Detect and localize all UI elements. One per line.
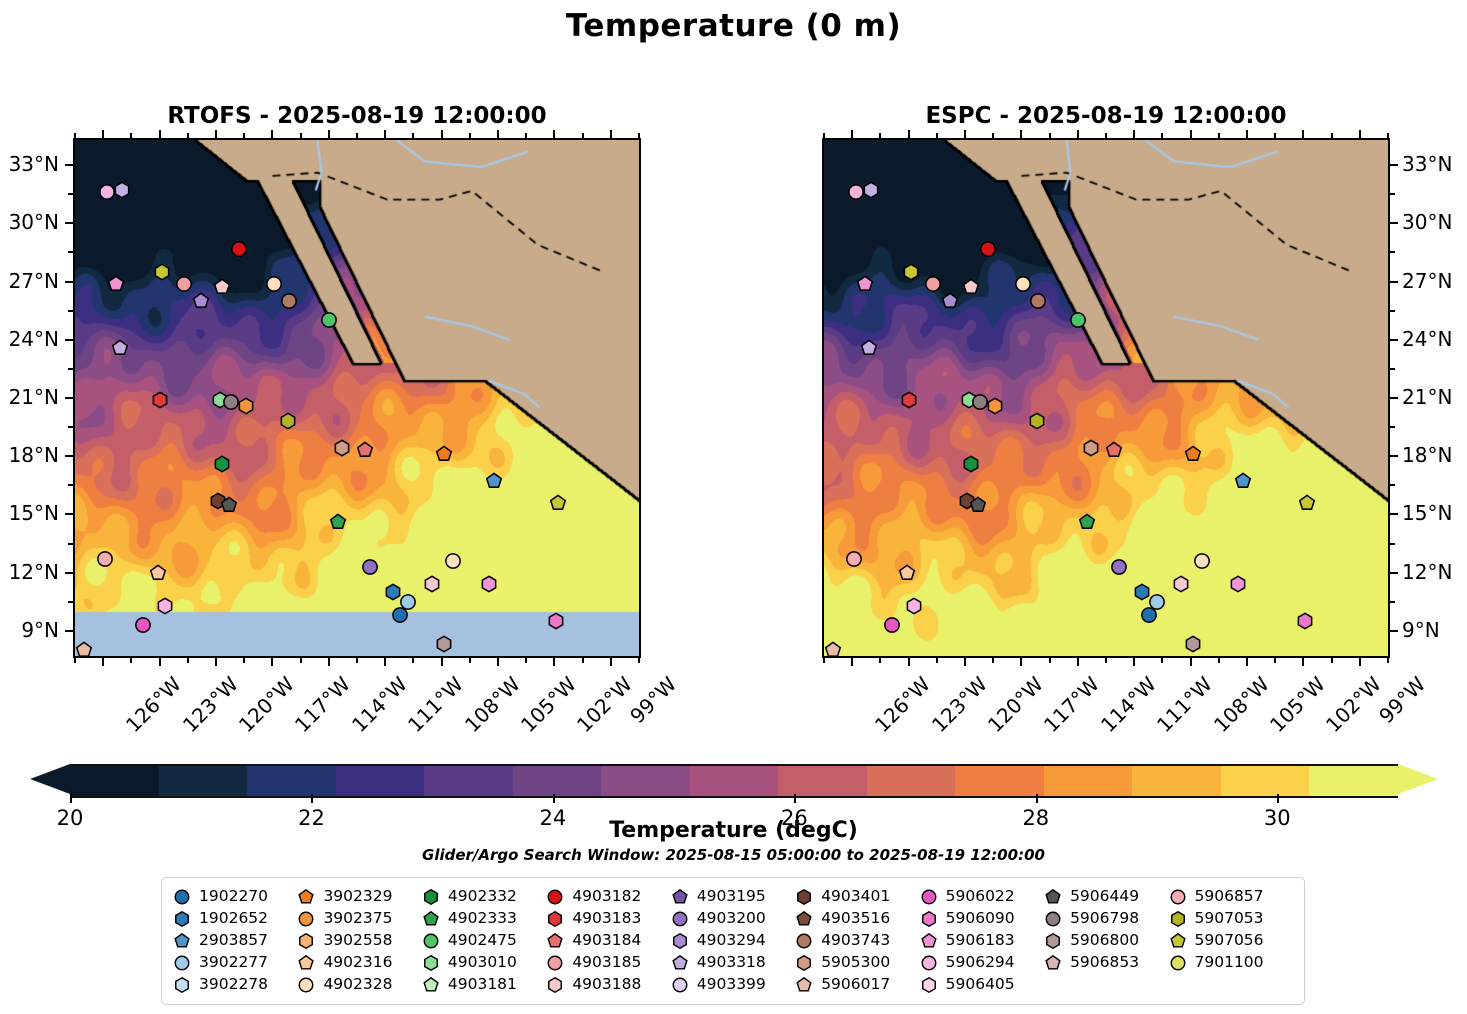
legend-item-label: 5906090 bbox=[946, 911, 1015, 927]
lon-tick-label: 102°W bbox=[572, 672, 637, 737]
legend-marker-icon bbox=[174, 889, 190, 905]
lat-tick bbox=[1390, 630, 1398, 632]
colorbar-gradient bbox=[70, 764, 1398, 798]
legend-item-label: 5906857 bbox=[1195, 889, 1264, 905]
lat-tick bbox=[65, 164, 73, 166]
platform-marker[interactable] bbox=[962, 279, 979, 300]
platform-marker[interactable] bbox=[900, 391, 917, 412]
lat-tick bbox=[1390, 222, 1398, 224]
lon-minor-tick bbox=[1274, 658, 1276, 663]
lon-minor-tick bbox=[992, 658, 994, 663]
legend-marker-icon bbox=[298, 933, 314, 949]
lon-tick bbox=[1020, 658, 1022, 666]
lon-tick-top bbox=[1359, 130, 1361, 138]
legend-column: 59060225906090590618359062945906405 bbox=[921, 887, 1045, 995]
legend-item[interactable]: 4903010 bbox=[423, 953, 547, 973]
platform-marker[interactable] bbox=[1184, 636, 1201, 657]
lon-minor-tick-top bbox=[1218, 133, 1220, 138]
legend-column: 39023293902375390255849023164902328 bbox=[298, 887, 422, 995]
platform-marker[interactable] bbox=[221, 496, 238, 517]
legend-marker-icon bbox=[1170, 911, 1186, 927]
platform-marker[interactable] bbox=[149, 564, 166, 585]
legend-item[interactable]: 4902316 bbox=[298, 953, 422, 973]
lon-tick-top bbox=[215, 130, 217, 138]
legend-item[interactable]: 5906449 bbox=[1045, 887, 1169, 907]
platform-marker[interactable] bbox=[1105, 442, 1122, 463]
lat-tick-label: 27°N bbox=[1402, 269, 1452, 293]
platform-marker[interactable] bbox=[320, 312, 337, 333]
search-window-subtitle: Glider/Argo Search Window: 2025-08-15 05… bbox=[0, 846, 1467, 864]
legend-item-label: 5906853 bbox=[1070, 955, 1139, 971]
platform-marker[interactable] bbox=[151, 391, 168, 412]
platform-marker[interactable] bbox=[362, 558, 379, 579]
platform-marker[interactable] bbox=[114, 182, 131, 203]
legend-item[interactable]: 3902558 bbox=[298, 931, 422, 951]
legend-item[interactable]: 4902475 bbox=[423, 931, 547, 951]
legend-marker-icon bbox=[298, 911, 314, 927]
platform-marker[interactable] bbox=[979, 240, 996, 261]
legend-item[interactable]: 4902328 bbox=[298, 975, 422, 995]
legend-marker-icon bbox=[547, 933, 563, 949]
legend-item-label: 4903010 bbox=[448, 955, 517, 971]
lat-tick bbox=[1390, 513, 1398, 515]
legend-column: 49031954903200490329449033184903399 bbox=[672, 887, 796, 995]
lon-minor-tick bbox=[936, 658, 938, 663]
colorbar-segment bbox=[336, 766, 425, 796]
platform-marker[interactable] bbox=[157, 597, 174, 618]
legend-marker-icon bbox=[298, 955, 314, 971]
legend-marker-icon bbox=[547, 977, 563, 993]
legend-item-label: 4903743 bbox=[821, 933, 890, 949]
colorbar-segment bbox=[690, 766, 779, 796]
lon-minor-tick-top bbox=[300, 133, 302, 138]
colorbar-segment bbox=[867, 766, 956, 796]
lat-minor-tick bbox=[1390, 193, 1395, 195]
platform-marker[interactable] bbox=[193, 292, 210, 313]
lon-tick-top bbox=[1133, 130, 1135, 138]
platform-marker[interactable] bbox=[153, 263, 170, 284]
platform-marker[interactable] bbox=[1069, 312, 1086, 333]
lon-tick-label: 111°W bbox=[1152, 672, 1217, 737]
legend-item-label: 5906022 bbox=[946, 889, 1015, 905]
legend-item-label: 5907056 bbox=[1195, 933, 1264, 949]
legend-item-label: 4903185 bbox=[572, 955, 641, 971]
legend-marker-icon bbox=[672, 955, 688, 971]
colorbar-title: Temperature (degC) bbox=[0, 818, 1467, 843]
lat-minor-tick bbox=[1390, 310, 1395, 312]
legend-marker-icon bbox=[921, 889, 937, 905]
colorbar-segment bbox=[247, 766, 336, 796]
legend-item[interactable]: 4903399 bbox=[672, 975, 796, 995]
legend-item[interactable]: 2903857 bbox=[174, 931, 298, 951]
legend-item-label: 4903401 bbox=[821, 889, 890, 905]
legend-column: 49023324902333490247549030104903181 bbox=[423, 887, 547, 995]
platform-marker[interactable] bbox=[486, 473, 503, 494]
map-panel-espc[interactable] bbox=[822, 138, 1390, 658]
platform-marker[interactable] bbox=[134, 617, 151, 638]
lat-minor-tick bbox=[68, 368, 73, 370]
platform-marker[interactable] bbox=[392, 607, 409, 628]
legend-item-label: 5906017 bbox=[821, 977, 890, 993]
lon-minor-tick bbox=[582, 658, 584, 663]
legend-item[interactable]: 4903318 bbox=[672, 953, 796, 973]
legend-item-label: 4903195 bbox=[697, 889, 766, 905]
legend-item[interactable]: 5906022 bbox=[921, 887, 1045, 907]
colorbar-over-arrow-icon bbox=[1398, 764, 1438, 794]
lon-minor-tick-top bbox=[936, 133, 938, 138]
legend-item[interactable]: 4903185 bbox=[547, 953, 671, 973]
lon-tick-top bbox=[610, 130, 612, 138]
legend-item[interactable]: 4903188 bbox=[547, 975, 671, 995]
lat-tick-label: 30°N bbox=[0, 210, 59, 234]
legend-item[interactable]: 4903743 bbox=[796, 931, 920, 951]
platform-marker[interactable] bbox=[76, 642, 93, 658]
platform-marker[interactable] bbox=[108, 275, 125, 296]
lon-tick-top bbox=[1077, 130, 1079, 138]
legend-item[interactable]: 5907056 bbox=[1170, 931, 1294, 951]
lon-tick bbox=[1077, 658, 1079, 666]
platform-marker[interactable] bbox=[213, 279, 230, 300]
lon-tick bbox=[964, 658, 966, 666]
lat-tick-label: 24°N bbox=[1402, 327, 1452, 351]
legend-column: 5906857590705359070567901100 bbox=[1170, 887, 1294, 995]
legend-marker-icon bbox=[298, 977, 314, 993]
legend-item[interactable]: 4903195 bbox=[672, 887, 796, 907]
legend-marker-icon bbox=[423, 955, 439, 971]
legend-item[interactable]: 4903401 bbox=[796, 887, 920, 907]
lon-minor-tick-top bbox=[1105, 133, 1107, 138]
platform-marker[interactable] bbox=[230, 240, 247, 261]
lat-tick-label: 33°N bbox=[0, 152, 59, 176]
panel-title-rtofs: RTOFS - 2025-08-19 12:00:00 bbox=[73, 103, 641, 129]
lon-minor-tick bbox=[469, 658, 471, 663]
legend-item[interactable]: 5906798 bbox=[1045, 909, 1169, 929]
lon-tick-label: 120°W bbox=[234, 672, 299, 737]
platform-marker[interactable] bbox=[1297, 613, 1314, 634]
lon-tick bbox=[908, 658, 910, 666]
legend-item[interactable]: 7901100 bbox=[1170, 953, 1294, 973]
legend-item[interactable]: 3902375 bbox=[298, 909, 422, 929]
lat-minor-tick bbox=[68, 310, 73, 312]
lon-tick bbox=[1302, 658, 1304, 666]
platform-marker[interactable] bbox=[1083, 440, 1100, 461]
legend-marker-icon bbox=[921, 911, 937, 927]
lon-minor-tick bbox=[130, 658, 132, 663]
platform-marker[interactable] bbox=[861, 339, 878, 360]
legend-item[interactable]: 5906853 bbox=[1045, 953, 1169, 973]
platform-marker[interactable] bbox=[846, 551, 863, 572]
legend-column: 19022701902652290385739022773902278 bbox=[174, 887, 298, 995]
platform-marker[interactable] bbox=[548, 613, 565, 634]
lon-minor-tick-top bbox=[638, 133, 640, 138]
lat-tick-label: 27°N bbox=[0, 269, 59, 293]
lon-tick-label: 105°W bbox=[516, 672, 581, 737]
platform-marker[interactable] bbox=[238, 397, 255, 418]
lat-tick bbox=[65, 339, 73, 341]
lon-minor-tick-top bbox=[1161, 133, 1163, 138]
legend-item-label: 4903399 bbox=[697, 977, 766, 993]
lat-minor-tick bbox=[1390, 251, 1395, 253]
legend-column: 49034014903516490374359053005906017 bbox=[796, 887, 920, 995]
lat-tick-label: 15°N bbox=[1402, 501, 1452, 525]
lon-tick-label: 126°W bbox=[870, 672, 935, 737]
legend-item[interactable]: 1902270 bbox=[174, 887, 298, 907]
lon-tick-top bbox=[328, 130, 330, 138]
lon-tick-top bbox=[964, 130, 966, 138]
platform-marker[interactable] bbox=[962, 455, 979, 476]
lat-tick bbox=[65, 630, 73, 632]
legend-item-label: 3902277 bbox=[199, 955, 268, 971]
legend-item[interactable]: 5906800 bbox=[1045, 931, 1169, 951]
lon-minor-tick-top bbox=[243, 133, 245, 138]
platform-marker[interactable] bbox=[213, 455, 230, 476]
lat-tick bbox=[65, 281, 73, 283]
legend-marker-icon bbox=[796, 889, 812, 905]
colorbar-under-arrow-icon bbox=[30, 764, 70, 794]
lon-tick-label: 99°W bbox=[625, 672, 681, 728]
colorbar-tick bbox=[553, 794, 555, 803]
lon-tick bbox=[102, 658, 104, 666]
platform-marker[interactable] bbox=[97, 551, 114, 572]
lon-tick bbox=[553, 658, 555, 666]
lon-tick-label: 111°W bbox=[403, 672, 468, 737]
lon-minor-tick-top bbox=[187, 133, 189, 138]
colorbar-segment bbox=[778, 766, 867, 796]
lon-minor-tick-top bbox=[412, 133, 414, 138]
lon-tick-top bbox=[159, 130, 161, 138]
platform-marker[interactable] bbox=[112, 339, 129, 360]
legend-item[interactable]: 5906857 bbox=[1170, 887, 1294, 907]
platform-marker[interactable] bbox=[906, 597, 923, 618]
legend-marker-icon bbox=[174, 977, 190, 993]
legend-item[interactable]: 4903181 bbox=[423, 975, 547, 995]
legend-marker-icon bbox=[547, 889, 563, 905]
platform-marker[interactable] bbox=[279, 413, 296, 434]
lon-minor-tick bbox=[1049, 658, 1051, 663]
platform-marker[interactable] bbox=[1184, 446, 1201, 467]
legend-item[interactable]: 5906294 bbox=[921, 953, 1045, 973]
legend-item-label: 3902558 bbox=[323, 933, 392, 949]
lon-tick bbox=[1359, 658, 1361, 666]
legend-marker-icon bbox=[423, 889, 439, 905]
legend-item[interactable]: 5905300 bbox=[796, 953, 920, 973]
legend-item-label: 4903188 bbox=[572, 977, 641, 993]
colorbar-tick bbox=[70, 794, 72, 803]
lon-tick-label: 123°W bbox=[926, 672, 991, 737]
legend-item[interactable]: 5907053 bbox=[1170, 909, 1294, 929]
platform-marker[interactable] bbox=[330, 514, 347, 535]
lon-tick-label: 114°W bbox=[347, 672, 412, 737]
lon-tick-top bbox=[1190, 130, 1192, 138]
panel-title-espc: ESPC - 2025-08-19 12:00:00 bbox=[822, 103, 1390, 129]
platform-marker[interactable] bbox=[970, 496, 987, 517]
lon-minor-tick-top bbox=[1049, 133, 1051, 138]
legend-item[interactable]: 5906017 bbox=[796, 975, 920, 995]
legend-marker-icon bbox=[423, 977, 439, 993]
lon-tick-top bbox=[384, 130, 386, 138]
legend-item-label: 1902652 bbox=[199, 911, 268, 927]
colorbar-segment bbox=[1132, 766, 1221, 796]
lon-tick bbox=[159, 658, 161, 666]
platform-marker[interactable] bbox=[1229, 576, 1246, 597]
platform-marker[interactable] bbox=[424, 576, 441, 597]
platform-marker[interactable] bbox=[480, 576, 497, 597]
lon-minor-tick bbox=[300, 658, 302, 663]
colorbar-segment bbox=[601, 766, 690, 796]
platform-marker[interactable] bbox=[1299, 494, 1316, 515]
legend-marker-icon bbox=[796, 933, 812, 949]
platform-marker[interactable] bbox=[898, 564, 915, 585]
lat-tick bbox=[1390, 455, 1398, 457]
platform-marker[interactable] bbox=[1173, 576, 1190, 597]
legend-item[interactable]: 4902332 bbox=[423, 887, 547, 907]
legend-item[interactable]: 4903294 bbox=[672, 931, 796, 951]
platform-marker[interactable] bbox=[902, 263, 919, 284]
lon-minor-tick-top bbox=[74, 133, 76, 138]
legend-item-label: 5907053 bbox=[1195, 911, 1264, 927]
lon-minor-tick bbox=[823, 658, 825, 663]
colorbar-segment bbox=[1309, 766, 1398, 796]
legend-item-label: 4903294 bbox=[697, 933, 766, 949]
platform-marker[interactable] bbox=[435, 636, 452, 657]
platform-marker[interactable] bbox=[435, 446, 452, 467]
lon-minor-tick bbox=[356, 658, 358, 663]
platform-marker[interactable] bbox=[1111, 558, 1128, 579]
lon-tick-label: 105°W bbox=[1265, 672, 1330, 737]
legend-marker-icon bbox=[672, 933, 688, 949]
colorbar-segment bbox=[1044, 766, 1133, 796]
colorbar-segment bbox=[513, 766, 602, 796]
lat-tick-label: 24°N bbox=[0, 327, 59, 351]
legend-item-label: 4903516 bbox=[821, 911, 890, 927]
legend-item-label: 5906405 bbox=[946, 977, 1015, 993]
legend-item[interactable]: 4903200 bbox=[672, 909, 796, 929]
lon-tick-label: 114°W bbox=[1096, 672, 1161, 737]
lat-tick bbox=[1390, 339, 1398, 341]
legend-item[interactable]: 5906405 bbox=[921, 975, 1045, 995]
legend-item[interactable]: 4903516 bbox=[796, 909, 920, 929]
legend-item-label: 7901100 bbox=[1195, 955, 1264, 971]
platform-marker[interactable] bbox=[857, 275, 874, 296]
legend-item[interactable]: 4903184 bbox=[547, 931, 671, 951]
legend-item[interactable]: 3902277 bbox=[174, 953, 298, 973]
lon-tick bbox=[1190, 658, 1192, 666]
lat-tick bbox=[65, 455, 73, 457]
lat-tick-label: 15°N bbox=[0, 501, 59, 525]
lat-minor-tick bbox=[1390, 543, 1395, 545]
platform-marker[interactable] bbox=[1235, 473, 1252, 494]
platform-marker[interactable] bbox=[550, 494, 567, 515]
platform-marker[interactable] bbox=[334, 440, 351, 461]
lat-tick bbox=[1390, 572, 1398, 574]
lat-tick bbox=[1390, 397, 1398, 399]
lon-tick bbox=[1133, 658, 1135, 666]
lat-minor-tick bbox=[1390, 368, 1395, 370]
legend-item-label: 5906449 bbox=[1070, 889, 1139, 905]
platform-marker[interactable] bbox=[1079, 514, 1096, 535]
figure-title: Temperature (0 m) bbox=[0, 8, 1467, 44]
platform-marker[interactable] bbox=[1141, 607, 1158, 628]
lon-minor-tick bbox=[1331, 658, 1333, 663]
lon-minor-tick bbox=[412, 658, 414, 663]
legend-marker-icon bbox=[796, 911, 812, 927]
platform-marker[interactable] bbox=[1030, 292, 1047, 313]
lon-tick-label: 117°W bbox=[1039, 672, 1104, 737]
legend-item-label: 5905300 bbox=[821, 955, 890, 971]
legend-marker-icon bbox=[298, 889, 314, 905]
legend-item[interactable]: 3902329 bbox=[298, 887, 422, 907]
lon-tick bbox=[384, 658, 386, 666]
legend-item[interactable]: 4903182 bbox=[547, 887, 671, 907]
legend-item-label: 4903318 bbox=[697, 955, 766, 971]
map-panel-rtofs[interactable] bbox=[73, 138, 641, 658]
platform-marker[interactable] bbox=[987, 397, 1004, 418]
platform-marker[interactable] bbox=[942, 292, 959, 313]
legend-item[interactable]: 5906090 bbox=[921, 909, 1045, 929]
platform-marker[interactable] bbox=[825, 642, 842, 658]
colorbar-segment bbox=[70, 766, 159, 796]
platform-marker[interactable] bbox=[1028, 413, 1045, 434]
lat-tick-label: 9°N bbox=[0, 618, 59, 642]
legend-item[interactable]: 1902652 bbox=[174, 909, 298, 929]
legend-marker-icon bbox=[547, 911, 563, 927]
legend-item-label: 4903200 bbox=[697, 911, 766, 927]
legend-marker-icon bbox=[423, 933, 439, 949]
lon-tick-top bbox=[851, 130, 853, 138]
lat-minor-tick bbox=[68, 601, 73, 603]
legend-item-label: 5906798 bbox=[1070, 911, 1139, 927]
platform-marker[interactable] bbox=[445, 552, 462, 573]
legend-item-label: 4903184 bbox=[572, 933, 641, 949]
platform-marker[interactable] bbox=[1194, 552, 1211, 573]
lon-minor-tick-top bbox=[469, 133, 471, 138]
lon-tick-label: 108°W bbox=[1209, 672, 1274, 737]
legend-item[interactable]: 4902333 bbox=[423, 909, 547, 929]
lon-minor-tick bbox=[525, 658, 527, 663]
platform-marker[interactable] bbox=[176, 275, 193, 296]
lat-tick-label: 12°N bbox=[1402, 560, 1452, 584]
legend-column: 49031824903183490318449031854903188 bbox=[547, 887, 671, 995]
platform-marker[interactable] bbox=[883, 617, 900, 638]
legend-marker-icon bbox=[796, 977, 812, 993]
lat-tick-label: 9°N bbox=[1402, 618, 1440, 642]
legend-item[interactable]: 4903183 bbox=[547, 909, 671, 929]
legend-item-label: 3902278 bbox=[199, 977, 268, 993]
lon-minor-tick-top bbox=[1387, 133, 1389, 138]
lon-tick-top bbox=[102, 130, 104, 138]
lat-tick bbox=[1390, 164, 1398, 166]
platform-marker[interactable] bbox=[356, 442, 373, 463]
lon-tick-top bbox=[1246, 130, 1248, 138]
lon-minor-tick bbox=[1387, 658, 1389, 663]
lon-minor-tick bbox=[879, 658, 881, 663]
lat-minor-tick bbox=[1390, 426, 1395, 428]
lon-tick bbox=[441, 658, 443, 666]
legend-item[interactable]: 5906183 bbox=[921, 931, 1045, 951]
legend-item-label: 4903183 bbox=[572, 911, 641, 927]
lon-tick-top bbox=[497, 130, 499, 138]
platform-marker[interactable] bbox=[281, 292, 298, 313]
platform-marker[interactable] bbox=[925, 275, 942, 296]
legend-marker-icon bbox=[672, 911, 688, 927]
legend-marker-icon bbox=[921, 977, 937, 993]
colorbar: 202224262830 bbox=[30, 764, 1438, 794]
platform-marker[interactable] bbox=[863, 182, 880, 203]
legend-item[interactable]: 3902278 bbox=[174, 975, 298, 995]
lat-tick bbox=[65, 572, 73, 574]
legend-column: 5906449590679859068005906853 bbox=[1045, 887, 1169, 995]
lon-minor-tick bbox=[638, 658, 640, 663]
